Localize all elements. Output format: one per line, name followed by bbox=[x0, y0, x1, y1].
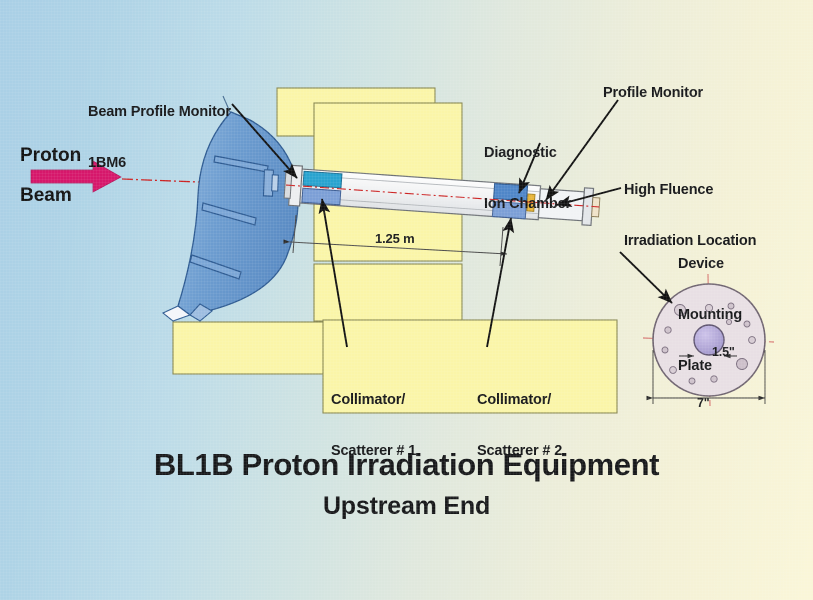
diagram-canvas: Beam Profile Monitor 1BM6 Proton Beam Di… bbox=[0, 0, 813, 600]
callout-diagnostic-ion-chamber-line2: Ion Chamber bbox=[484, 196, 571, 213]
dimension-label-plate-diameter: 7" bbox=[697, 396, 710, 411]
dimension-label-beamline-length: 1.25 m bbox=[375, 231, 415, 246]
callout-beam-profile-monitor-line2: 1BM6 bbox=[88, 155, 231, 172]
callout-device-mounting-plate-line2: Mounting bbox=[678, 307, 742, 324]
proton-beam-label-top: Proton bbox=[20, 145, 81, 167]
callout-diagnostic-ion-chamber-line1: Diagnostic bbox=[484, 145, 571, 162]
callout-device-mounting-plate-line3: Plate bbox=[678, 358, 742, 375]
callout-beam-profile-monitor: Beam Profile Monitor 1BM6 bbox=[88, 70, 231, 206]
callout-diagnostic-ion-chamber: Diagnostic Ion Chamber bbox=[484, 111, 571, 247]
callout-collimator-scatterer-1-line1: Collimator/ bbox=[331, 392, 416, 409]
proton-beam-label-bottom: Beam bbox=[20, 185, 72, 207]
callout-high-fluence-line1: High Fluence bbox=[624, 182, 756, 199]
dimension-label-plate-bore: 1.5" bbox=[712, 345, 735, 360]
figure-title-line2: Upstream End bbox=[0, 492, 813, 521]
figure-title-line1: BL1B Proton Irradiation Equipment bbox=[0, 447, 813, 483]
callout-profile-monitor: Profile Monitor bbox=[603, 85, 703, 102]
shield-block-middle bbox=[314, 264, 462, 321]
shield-block-left bbox=[173, 322, 333, 374]
callout-device-mounting-plate-line1: Device bbox=[678, 256, 742, 273]
callout-device-mounting-plate: Device Mounting Plate bbox=[678, 222, 742, 408]
callout-collimator-scatterer-2-line1: Collimator/ bbox=[477, 392, 562, 409]
callout-beam-profile-monitor-line1: Beam Profile Monitor bbox=[88, 104, 231, 121]
